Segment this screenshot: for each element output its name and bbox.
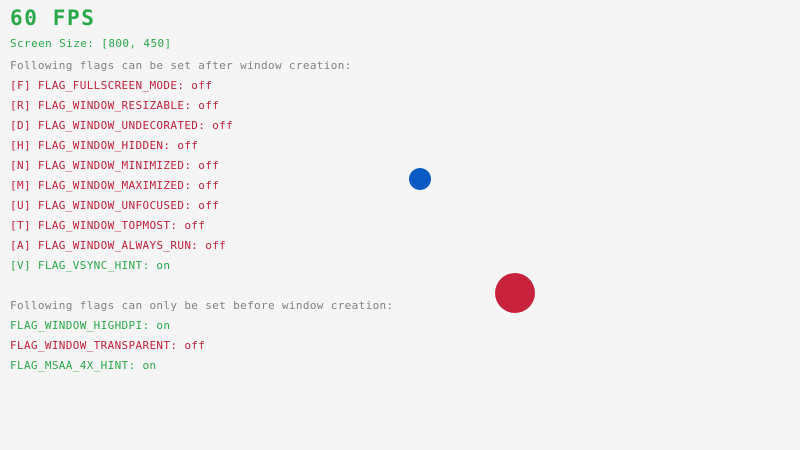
flag-window-maximized[interactable]: [M] FLAG_WINDOW_MAXIMIZED: off	[10, 180, 219, 191]
raylib-window-canvas[interactable]: 60 FPS Screen Size: [800, 450] Following…	[0, 0, 800, 450]
flag-window-always-run[interactable]: [A] FLAG_WINDOW_ALWAYS_RUN: off	[10, 240, 226, 251]
flag-vsync-hint[interactable]: [V] FLAG_VSYNC_HINT: on	[10, 260, 170, 271]
fps-counter: 60 FPS	[10, 8, 95, 29]
flag-window-unfocused[interactable]: [U] FLAG_WINDOW_UNFOCUSED: off	[10, 200, 219, 211]
after-creation-heading: Following flags can be set after window …	[10, 60, 352, 71]
flag-msaa-4x-hint: FLAG_MSAA_4X_HINT: on	[10, 360, 156, 371]
flag-window-topmost[interactable]: [T] FLAG_WINDOW_TOPMOST: off	[10, 220, 205, 231]
flag-window-transparent: FLAG_WINDOW_TRANSPARENT: off	[10, 340, 205, 351]
flag-window-highdpi: FLAG_WINDOW_HIGHDPI: on	[10, 320, 170, 331]
before-creation-heading: Following flags can only be set before w…	[10, 300, 394, 311]
overlay-text-layer: 60 FPS Screen Size: [800, 450] Following…	[0, 0, 800, 450]
flag-window-undecorated[interactable]: [D] FLAG_WINDOW_UNDECORATED: off	[10, 120, 233, 131]
small-blue-ball	[409, 168, 431, 190]
flag-window-hidden[interactable]: [H] FLAG_WINDOW_HIDDEN: off	[10, 140, 198, 151]
flag-fullscreen-mode[interactable]: [F] FLAG_FULLSCREEN_MODE: off	[10, 80, 212, 91]
flag-window-minimized[interactable]: [N] FLAG_WINDOW_MINIMIZED: off	[10, 160, 219, 171]
flag-window-resizable[interactable]: [R] FLAG_WINDOW_RESIZABLE: off	[10, 100, 219, 111]
large-red-ball	[495, 273, 535, 313]
screen-size-label: Screen Size: [800, 450]	[10, 38, 172, 49]
